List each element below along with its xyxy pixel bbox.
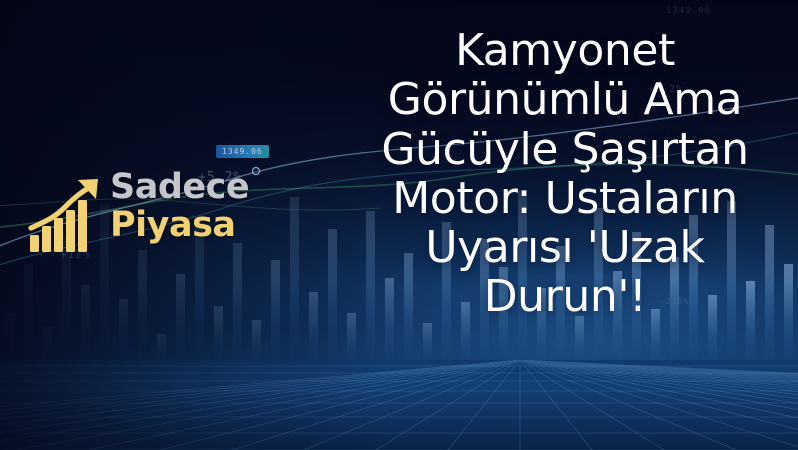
headline-line-4: Motor: Ustaların — [350, 174, 780, 223]
ticker-price-topright: 1349.06 — [666, 6, 711, 16]
headline-line-6: Durun'! — [350, 272, 780, 321]
headline-line-2: Görünümlü Ama — [350, 75, 780, 124]
price-tooltip-chip: 1349.06 — [216, 145, 269, 158]
brand-logo-text: Sadece Piyasa — [110, 170, 249, 244]
headline-line-3: Gücüyle Şaşırtan — [350, 125, 780, 174]
growth-arrow-bar-chart-icon — [28, 178, 106, 254]
brand-logo[interactable]: Sadece Piyasa — [28, 172, 233, 258]
featured-image-canvas: 1349.06 +5.2% +12% +5.2% -2.8% 1349.06 S… — [0, 0, 798, 450]
page-title: Kamyonet Görünümlü Ama Gücüyle Şaşırtan … — [350, 26, 780, 322]
price-point-marker — [252, 167, 260, 175]
headline-line-5: Uyarısı 'Uzak — [350, 223, 780, 272]
brand-name-line2: Piyasa — [110, 207, 249, 244]
brand-name-line1: Sadece — [110, 170, 249, 205]
headline-line-1: Kamyonet — [350, 26, 780, 75]
